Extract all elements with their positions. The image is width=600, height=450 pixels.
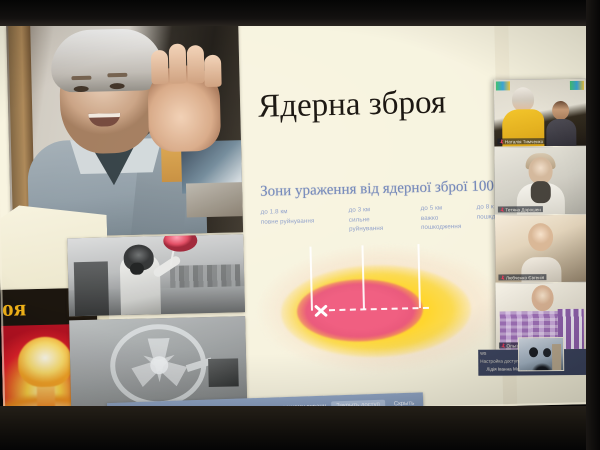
mic-muted-icon	[500, 207, 504, 212]
video-tile-0[interactable]: Наталія Тимченко	[494, 79, 587, 148]
participant-name-2: Любченко Євгенія	[498, 274, 546, 280]
epicenter-x-marker	[313, 302, 329, 318]
presentation-slide: роя	[0, 6, 503, 418]
slide-subtitle: Зони ураження від ядерної зброї 100 к	[260, 178, 510, 201]
mic-muted-icon	[500, 275, 504, 280]
zone-label-2: до 5 км важко пошкодження	[421, 203, 462, 233]
monitor-bezel-right	[586, 0, 600, 450]
photo-hazmat-figure-with-balloon	[67, 234, 245, 316]
screen-surface: роя	[0, 4, 600, 418]
video-tile-4[interactable]	[518, 337, 564, 371]
mic-muted-icon	[499, 139, 503, 144]
zoom-participant-strip[interactable]: Наталія Тимченко Тетяна Дорошен Любченко…	[494, 79, 588, 372]
windows-label: ws	[480, 351, 486, 357]
zone-label-0: до 1.8 км повне руйнування	[261, 207, 315, 227]
photo-hibakusha-survivor	[6, 20, 243, 237]
monitor-bezel-bottom	[0, 406, 600, 450]
video-tile-1[interactable]: Тетяна Дорошен	[494, 147, 587, 216]
damage-radius-diagram	[251, 238, 510, 380]
photographed-monitor: роя	[0, 0, 600, 450]
participant-name-0: Наталія Тимченко	[497, 138, 545, 144]
decorative-badge-icon	[496, 81, 510, 90]
monitor-bezel-top	[0, 0, 600, 26]
slide-title: Ядерна зброя	[258, 84, 499, 124]
video-tile-2[interactable]: Любченко Євгенія	[495, 215, 588, 284]
photo-aerial-radiation-trefoil	[69, 316, 247, 412]
zone-label-1: до 3 км сильне руйнування	[349, 205, 384, 235]
participant-name-1: Тетяна Дорошен	[498, 206, 543, 212]
decorative-badge-icon	[570, 81, 584, 90]
mic-muted-icon	[501, 343, 505, 348]
